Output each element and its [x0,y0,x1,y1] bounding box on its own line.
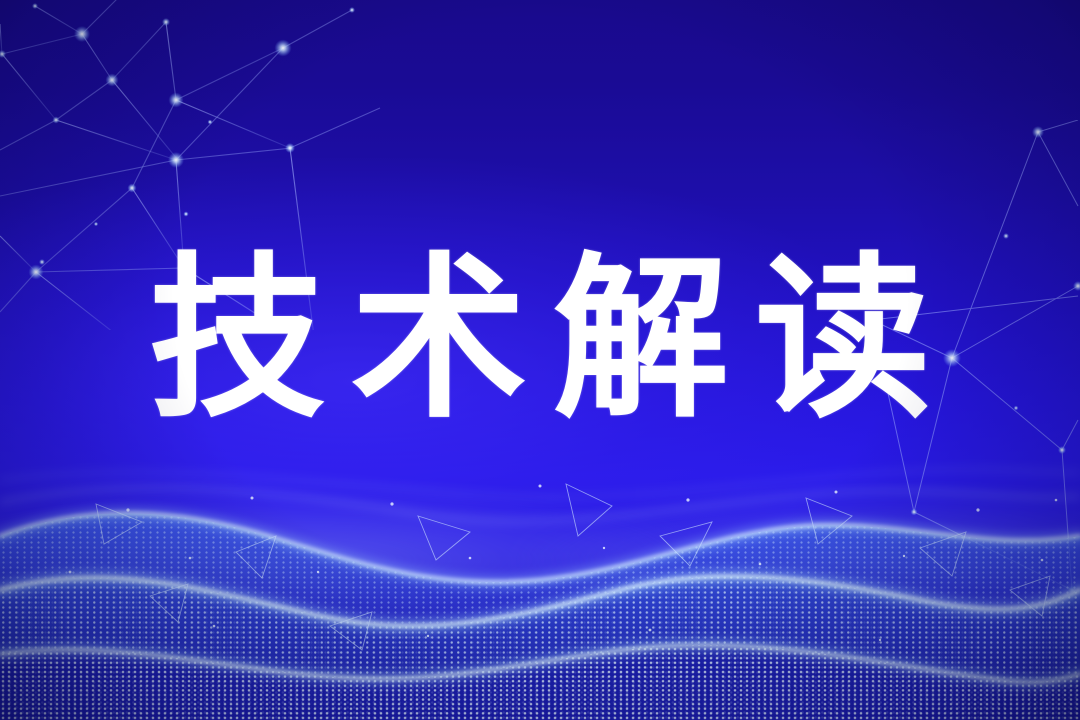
wave-polygon-fragments [96,484,1050,650]
page-title: 技术解读 [0,252,1080,428]
wave-spark-dots [69,485,1058,642]
wave-mesh [0,440,1080,720]
banner-canvas: 技术解读 [0,0,1080,720]
particle-wave-bottom [0,440,1080,720]
